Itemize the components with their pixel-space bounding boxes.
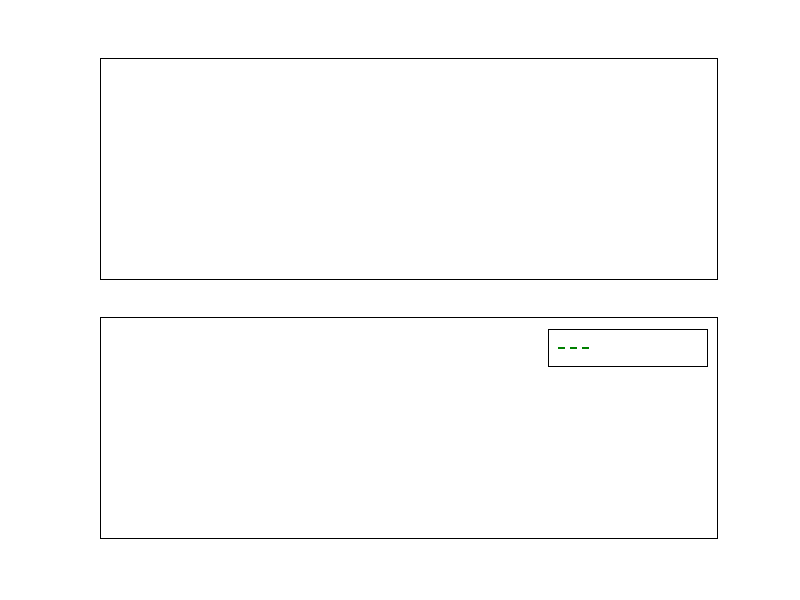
figure-canvas: [0, 0, 800, 600]
differential-histogram-axes: [100, 58, 718, 280]
legend-box: [548, 329, 708, 367]
mag-limit-legend-swatch: [557, 341, 591, 355]
